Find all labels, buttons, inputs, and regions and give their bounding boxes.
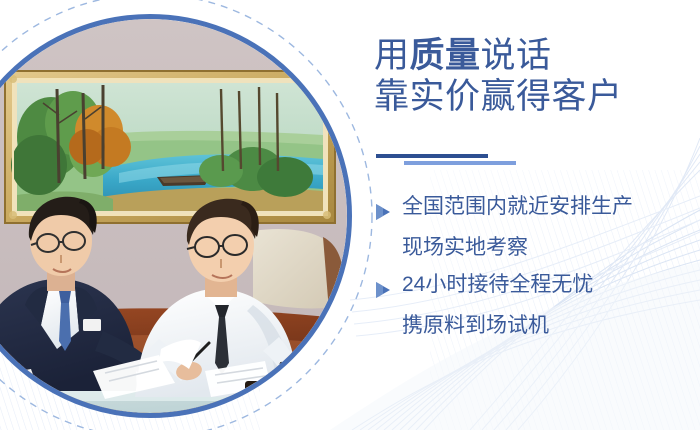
feature-item-text: 24小时接待全程无忧 [402,274,593,295]
divider-light-line [404,161,516,165]
headline: 用质量说话 靠实价赢得客户 [374,36,623,117]
feature-item: 24小时接待全程无忧 携原料到场试机 [374,274,700,336]
divider-dark-line [376,154,488,158]
arrow-right-icon [374,202,392,226]
headline-line1-prefix: 用 [374,36,410,75]
banner-content: 用质量说话 靠实价赢得客户 全国范围内就近安排生产 现场实地考察 [374,0,700,430]
feature-item-main: 全国范围内就近安排生产 [374,196,700,226]
headline-line-2: 靠实价赢得客户 [374,77,623,118]
headline-line1-suffix: 说话 [481,36,552,75]
feature-item-main: 24小时接待全程无忧 [374,274,700,304]
divider-rules [376,154,556,168]
hero-photo-circle [0,14,352,418]
feature-item-subtext: 现场实地考察 [402,237,700,258]
feature-item-text: 全国范围内就近安排生产 [402,196,633,217]
headline-line-1: 用质量说话 [374,36,623,77]
arrow-right-icon [374,280,392,304]
business-meeting-photo [0,19,347,413]
hero-photo-clip [0,19,347,413]
feature-item: 全国范围内就近安排生产 现场实地考察 [374,196,700,258]
headline-line1-emphasis: 质量 [410,36,481,75]
promotional-banner: 用质量说话 靠实价赢得客户 全国范围内就近安排生产 现场实地考察 [0,0,700,430]
feature-item-subtext: 携原料到场试机 [402,315,700,336]
feature-list: 全国范围内就近安排生产 现场实地考察 24小时接待全程无忧 携原料到场试机 [374,196,700,352]
